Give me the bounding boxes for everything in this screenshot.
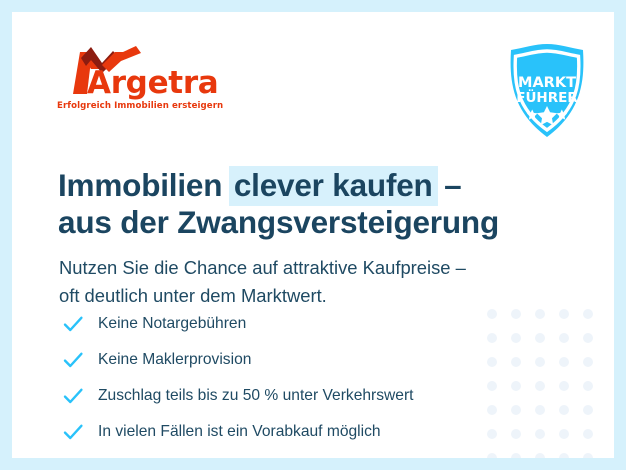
promo-banner: Argetra Erfolgreich Immobilien ersteiger… <box>12 12 614 458</box>
banner-header: Argetra Erfolgreich Immobilien ersteiger… <box>12 12 614 130</box>
subheadline-line-2: oft deutlich unter dem Marktwert. <box>59 282 466 310</box>
decorative-dot <box>528 422 552 446</box>
decorative-dot <box>576 326 600 350</box>
subheadline: Nutzen Sie die Chance auf attraktive Kau… <box>59 254 466 310</box>
benefit-label: Zuschlag teils bis zu 50 % unter Verkehr… <box>98 388 413 404</box>
badge-line2: FÜHRER <box>516 88 578 106</box>
check-icon <box>62 313 84 335</box>
decorative-dot <box>528 398 552 422</box>
argetra-logo-mark: Argetra <box>57 42 217 100</box>
benefit-item: Zuschlag teils bis zu 50 % unter Verkehr… <box>62 381 413 411</box>
decorative-dot <box>528 374 552 398</box>
check-icon <box>62 385 84 407</box>
decorative-dot <box>576 422 600 446</box>
decorative-dot <box>528 350 552 374</box>
benefit-item: Keine Maklerprovision <box>62 345 413 375</box>
headline-highlight: clever kaufen <box>229 166 438 206</box>
argetra-wordmark-icon: Argetra <box>57 42 217 100</box>
decorative-dot <box>480 302 504 326</box>
marktfuehrer-badge: MARKT FÜHRER <box>501 42 593 139</box>
decorative-dot <box>552 398 576 422</box>
decorative-dot <box>552 350 576 374</box>
decorative-dot <box>480 374 504 398</box>
decorative-dot <box>504 350 528 374</box>
decorative-dot <box>552 422 576 446</box>
benefit-label: Keine Maklerprovision <box>98 352 251 368</box>
decorative-dot <box>576 302 600 326</box>
check-icon <box>62 349 84 371</box>
decorative-dot <box>576 374 600 398</box>
svg-text:Argetra: Argetra <box>87 65 217 100</box>
decorative-dot <box>480 422 504 446</box>
decorative-dot <box>480 326 504 350</box>
headline-prefix: Immobilien <box>58 167 231 203</box>
benefit-label: Keine Notargebühren <box>98 316 246 332</box>
decorative-dot <box>528 446 552 458</box>
argetra-logo-tagline: Erfolgreich Immobilien ersteigern <box>57 101 257 111</box>
headline-line-2: aus der Zwangsversteigerung <box>58 204 499 241</box>
benefit-item: Keine Notargebühren <box>62 309 413 339</box>
decorative-dot <box>480 350 504 374</box>
decorative-dot <box>528 302 552 326</box>
shield-badge-icon: MARKT FÜHRER <box>501 42 593 139</box>
decorative-dot <box>528 326 552 350</box>
headline: Immobilien clever kaufen – aus der Zwang… <box>58 167 499 241</box>
decorative-dot <box>552 302 576 326</box>
decorative-dot <box>504 302 528 326</box>
check-icon <box>62 421 84 443</box>
badge-line1: MARKT <box>518 75 576 91</box>
decorative-dot <box>504 326 528 350</box>
argetra-logo[interactable]: Argetra Erfolgreich Immobilien ersteiger… <box>57 42 257 111</box>
benefits-list: Keine NotargebührenKeine Maklerprovision… <box>62 309 413 447</box>
decorative-dot <box>504 374 528 398</box>
benefit-item: In vielen Fällen ist ein Vorabkauf mögli… <box>62 417 413 447</box>
headline-line-1: Immobilien clever kaufen – <box>58 167 499 204</box>
benefit-label: In vielen Fällen ist ein Vorabkauf mögli… <box>98 424 381 440</box>
decorative-dot <box>552 326 576 350</box>
decorative-dot <box>504 422 528 446</box>
decorative-dot <box>576 398 600 422</box>
subheadline-line-1: Nutzen Sie die Chance auf attraktive Kau… <box>59 254 466 282</box>
decorative-dot <box>576 446 600 458</box>
decorative-dot <box>480 398 504 422</box>
decorative-dot <box>552 446 576 458</box>
decorative-dot <box>576 350 600 374</box>
headline-suffix: – <box>436 167 462 203</box>
decorative-dot <box>552 374 576 398</box>
decorative-dot <box>480 446 504 458</box>
decorative-dot <box>504 446 528 458</box>
decorative-dot <box>504 398 528 422</box>
decorative-dot-grid <box>480 302 600 458</box>
